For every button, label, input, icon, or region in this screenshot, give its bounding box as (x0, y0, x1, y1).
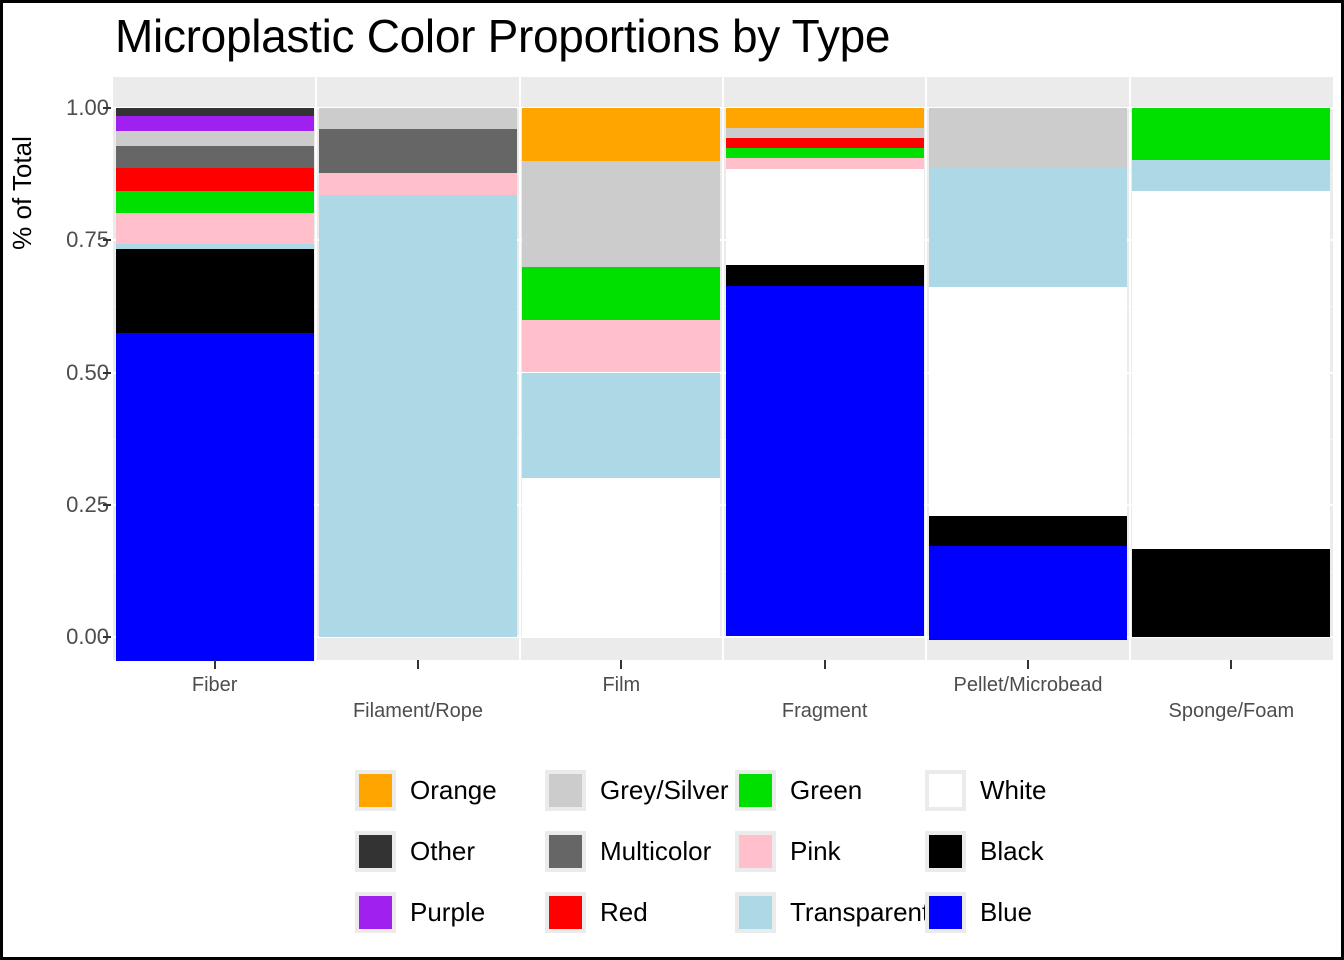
bar-segment-pink[interactable] (116, 213, 314, 245)
legend-item[interactable]: Grey/Silver (545, 770, 735, 811)
x-axis-tick-mark (620, 660, 622, 669)
legend-label: Red (600, 897, 648, 928)
gridline-vertical (722, 77, 724, 660)
y-axis-tick-mark (103, 372, 111, 374)
legend-swatch-purple (359, 896, 392, 929)
legend-key-background (735, 831, 776, 872)
x-axis-tick-label: Film (602, 674, 640, 697)
bar-segment-white[interactable] (726, 169, 924, 265)
bar-segment-transparent[interactable] (319, 195, 517, 637)
legend-key-background (925, 831, 966, 872)
bar-segment-green[interactable] (522, 267, 720, 320)
bar-segment-orange[interactable] (726, 108, 924, 128)
legend-label: Orange (410, 775, 497, 806)
bar-segment-black[interactable] (116, 249, 314, 333)
bar-segment-multicolor[interactable] (319, 129, 517, 173)
legend-label: Multicolor (600, 836, 711, 867)
legend-item[interactable]: Transparent (735, 892, 925, 933)
bar-segment-green[interactable] (1132, 108, 1330, 160)
bar-segment-blue[interactable] (116, 333, 314, 661)
x-axis-tick-label: Fragment (782, 700, 868, 723)
bar-segment-grey-silver[interactable] (726, 128, 924, 138)
legend-key-background (355, 892, 396, 933)
legend-label: Black (980, 836, 1044, 867)
y-axis-tick-label: 0.75 (37, 227, 109, 253)
legend-swatch-other (359, 835, 392, 868)
y-axis-tick-label: 0.00 (37, 624, 109, 650)
legend-key-background (545, 892, 586, 933)
y-axis-tick-mark (103, 504, 111, 506)
legend-item[interactable]: Green (735, 770, 925, 811)
bar-stack[interactable] (726, 108, 924, 637)
legend-key-background (545, 770, 586, 811)
legend-key-background (545, 831, 586, 872)
bar-segment-pink[interactable] (522, 320, 720, 373)
y-axis-tick-mark (103, 239, 111, 241)
y-axis-tick-label: 0.50 (37, 360, 109, 386)
legend-key-background (925, 770, 966, 811)
bar-segment-black[interactable] (1132, 549, 1330, 637)
x-axis-tick-mark (824, 660, 826, 669)
gridline-vertical (519, 77, 521, 660)
x-axis-tick-label: Fiber (192, 674, 238, 697)
legend-swatch-white (929, 774, 962, 807)
legend-item[interactable]: Orange (355, 770, 545, 811)
x-axis-tick-mark (214, 660, 216, 669)
legend-key-background (355, 770, 396, 811)
legend-label: Pink (790, 836, 841, 867)
bar-segment-green[interactable] (116, 191, 314, 213)
bar-segment-transparent[interactable] (929, 168, 1127, 287)
legend-key-background (735, 892, 776, 933)
bar-segment-blue[interactable] (726, 286, 924, 636)
legend-label: Purple (410, 897, 485, 928)
legend-item[interactable]: Black (925, 831, 1115, 872)
legend-swatch-orange (359, 774, 392, 807)
legend-label: Other (410, 836, 475, 867)
legend-swatch-red (549, 896, 582, 929)
y-axis-tick-label: 1.00 (37, 95, 109, 121)
gridline-vertical (1129, 77, 1131, 660)
legend-label: Green (790, 775, 862, 806)
legend-swatch-pink (739, 835, 772, 868)
legend-key-background (925, 892, 966, 933)
bar-segment-white[interactable] (929, 287, 1127, 516)
x-axis-tick-mark (1027, 660, 1029, 669)
legend-item[interactable]: Other (355, 831, 545, 872)
legend-item[interactable]: White (925, 770, 1115, 811)
bar-segment-pink[interactable] (726, 158, 924, 169)
legend-swatch-blue (929, 896, 962, 929)
bar-stack[interactable] (1132, 108, 1330, 637)
bar-segment-black[interactable] (929, 516, 1127, 546)
x-axis-tick-mark (1230, 660, 1232, 669)
bar-stack[interactable] (929, 108, 1127, 637)
legend-label: Blue (980, 897, 1032, 928)
legend-swatch-grey-silver (549, 774, 582, 807)
bar-segment-red[interactable] (726, 138, 924, 148)
y-axis-tick-label: 0.25 (37, 492, 109, 518)
legend-item[interactable]: Blue (925, 892, 1115, 933)
gridline-vertical (315, 77, 317, 660)
legend-item[interactable]: Multicolor (545, 831, 735, 872)
bar-segment-grey-silver[interactable] (522, 161, 720, 267)
legend-swatch-green (739, 774, 772, 807)
bar-stack[interactable] (319, 108, 517, 637)
bar-segment-transparent[interactable] (1132, 160, 1330, 191)
gridline-vertical (925, 77, 927, 660)
bar-segment-multicolor[interactable] (116, 146, 314, 168)
legend-swatch-multicolor (549, 835, 582, 868)
bar-segment-red[interactable] (116, 168, 314, 191)
bar-segment-white[interactable] (522, 478, 720, 636)
bar-segment-transparent[interactable] (522, 373, 720, 479)
bar-segment-grey-silver[interactable] (929, 108, 1127, 168)
legend-key-background (355, 831, 396, 872)
legend-swatch-black (929, 835, 962, 868)
legend-label: White (980, 775, 1046, 806)
bar-segment-white[interactable] (1132, 191, 1330, 549)
legend-item[interactable]: Red (545, 892, 735, 933)
legend-swatch-transparent (739, 896, 772, 929)
plot-panel (113, 77, 1333, 660)
x-axis-tick-mark (417, 660, 419, 669)
bar-segment-green[interactable] (726, 148, 924, 158)
legend-item[interactable]: Pink (735, 831, 925, 872)
legend: OrangeGrey/SilverGreenWhiteOtherMulticol… (355, 760, 1115, 943)
x-axis-tick-label: Filament/Rope (353, 700, 483, 723)
y-axis-tick-mark (103, 107, 111, 109)
y-axis-ticks: 0.000.250.500.751.00 (23, 3, 109, 957)
x-axis-tick-label: Pellet/Microbead (954, 674, 1103, 697)
bar-segment-blue[interactable] (929, 546, 1127, 640)
x-axis: FiberFilament/RopeFilmFragmentPellet/Mic… (113, 660, 1333, 730)
bar-segment-grey-silver[interactable] (319, 108, 517, 129)
legend-label: Transparent (790, 897, 929, 928)
x-axis-tick-label: Sponge/Foam (1169, 700, 1295, 723)
legend-label: Grey/Silver (600, 775, 729, 806)
bar-segment-grey-silver[interactable] (116, 131, 314, 146)
bar-segment-orange[interactable] (522, 108, 720, 161)
bar-stack[interactable] (116, 108, 314, 637)
bar-segment-black[interactable] (726, 265, 924, 286)
legend-item[interactable]: Purple (355, 892, 545, 933)
bar-stack[interactable] (522, 108, 720, 637)
chart-title: Microplastic Color Proportions by Type (115, 9, 890, 63)
bar-segment-pink[interactable] (319, 173, 517, 195)
bar-segment-other[interactable] (116, 108, 314, 116)
y-axis-tick-mark (103, 636, 111, 638)
bar-segment-purple[interactable] (116, 116, 314, 131)
legend-key-background (735, 770, 776, 811)
chart-root: Microplastic Color Proportions by Type %… (3, 3, 1341, 957)
